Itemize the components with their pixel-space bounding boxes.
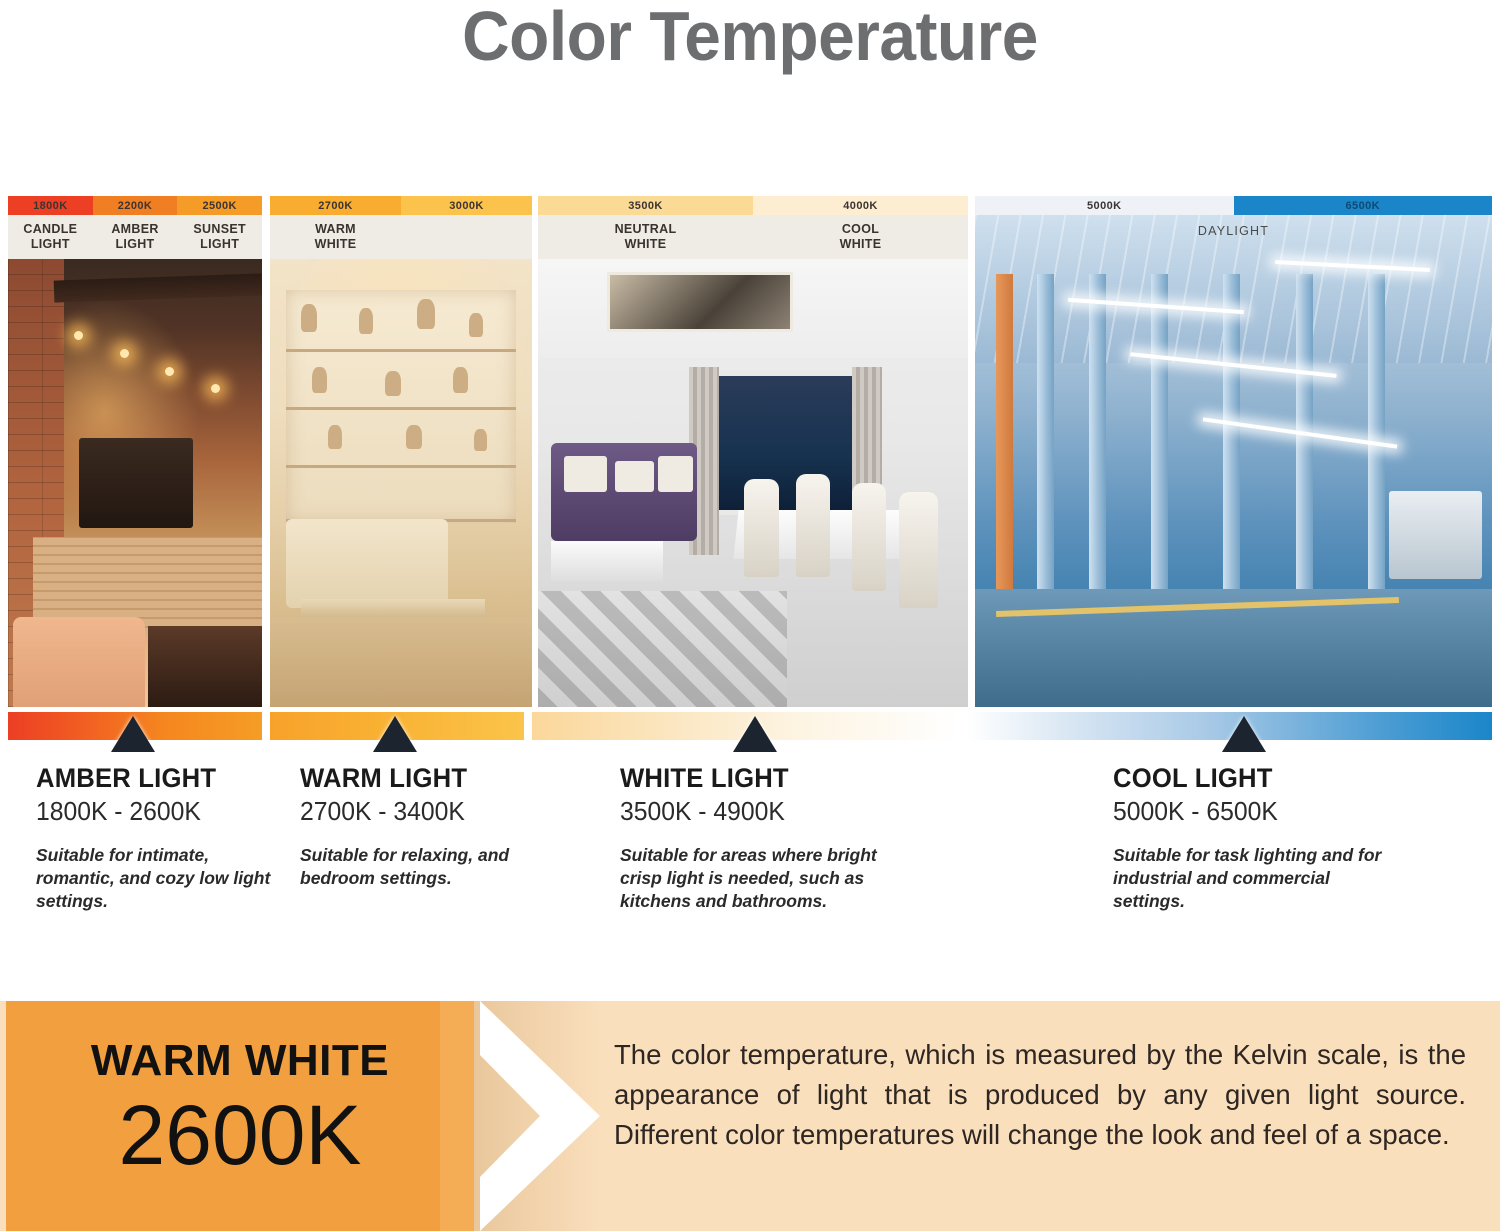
kelvin-band-amber: 1800K 2200K 2500K [8,196,262,215]
panel-warm: 2700K 3000K WARM WHITE [270,196,532,707]
category-description: Suitable for areas where bright crisp li… [620,844,920,913]
category-cool-light: COOL LIGHT 5000K - 6500K Suitable for ta… [1113,762,1403,913]
category-heading: WHITE LIGHT [620,762,905,794]
chevron-right-icon [474,1001,600,1231]
photo-white-dining-room [538,259,968,707]
kelvin-cell-2200k: 2200K [93,196,178,215]
marker-triangle-warm [373,716,417,752]
category-description: Suitable for relaxing, and bedroom setti… [300,844,550,890]
product-banner: WARM WHITE 2600K The color temperature, … [0,1001,1500,1231]
kelvin-name-amber-2: LIGHT [116,237,155,252]
kelvin-cell-2700k: 2700K [270,196,401,215]
kelvin-band-warm: 2700K 3000K [270,196,532,215]
category-warm-light: WARM LIGHT 2700K - 3400K Suitable for re… [300,762,550,890]
kelvin-name-sunset-1: SUNSET [193,222,246,237]
kelvin-cell-3000k: 3000K [401,196,532,215]
photo-amber-loft [8,259,262,707]
kelvin-name-candle-2: LIGHT [31,237,70,252]
kelvin-cell-4000k: 4000K [753,196,968,215]
kelvin-cell-5000k: 5000K [975,196,1234,215]
panel-white: 3500K 4000K NEUTRAL WHITE COOL WHITE [538,196,968,707]
panel-amber: 1800K 2200K 2500K CANDLE LIGHT AMBER LIG… [8,196,262,707]
category-range: 5000K - 6500K [1113,795,1389,827]
kelvin-band-daylight: 5000K 6500K [975,196,1492,215]
marker-triangle-cool [1222,716,1266,752]
marker-triangle-amber [111,716,155,752]
category-heading: COOL LIGHT [1113,762,1389,794]
kelvin-name-daylight: DAYLIGHT [975,218,1492,244]
kelvin-name-coolwhite-2: WHITE [840,237,882,252]
banner-product-label: WARM WHITE [50,1035,430,1087]
kelvin-cell-3500k: 3500K [538,196,753,215]
kelvin-name-warmwhite-1: WARM [315,222,356,237]
panel-daylight: 5000K 6500K [975,196,1492,707]
kelvin-cell-2500k: 2500K [177,196,262,215]
infographic-root: Color Temperature 1800K 2200K 2500K CAND… [0,0,1500,1231]
kelvin-names-white: NEUTRAL WHITE COOL WHITE [538,215,968,259]
page-title: Color Temperature [45,0,1455,74]
category-amber-light: AMBER LIGHT 1800K - 2600K Suitable for i… [36,762,281,913]
category-heading: WARM LIGHT [300,762,538,794]
kelvin-band-white: 3500K 4000K [538,196,968,215]
category-description: Suitable for task lighting and for indus… [1113,844,1403,913]
color-temperature-strip: 1800K 2200K 2500K CANDLE LIGHT AMBER LIG… [8,196,1492,707]
kelvin-name-neutralwhite-1: NEUTRAL [615,222,677,237]
photo-daylight-warehouse [975,215,1492,707]
kelvin-cell-1800k: 1800K [8,196,93,215]
category-heading: AMBER LIGHT [36,762,269,794]
category-range: 1800K - 2600K [36,795,269,827]
photo-warm-living-room [270,259,532,707]
banner-product-kelvin: 2600K [50,1089,430,1181]
banner-product-text: WARM WHITE 2600K [50,1035,430,1181]
category-range: 2700K - 3400K [300,795,538,827]
kelvin-name-warmwhite-2: WHITE [315,237,357,252]
kelvin-names-warm: WARM WHITE [270,215,532,259]
kelvin-name-neutralwhite-2: WHITE [625,237,667,252]
kelvin-names-amber: CANDLE LIGHT AMBER LIGHT SUNSET LIGHT [8,215,262,259]
category-white-light: WHITE LIGHT 3500K - 4900K Suitable for a… [620,762,920,913]
kelvin-cell-6500k: 6500K [1234,196,1493,215]
kelvin-name-coolwhite-1: COOL [842,222,879,237]
marker-triangle-white [733,716,777,752]
kelvin-name-sunset-2: LIGHT [200,237,239,252]
category-description: Suitable for intimate, romantic, and coz… [36,844,281,913]
category-range: 3500K - 4900K [620,795,905,827]
kelvin-name-amber-1: AMBER [111,222,158,237]
banner-paragraph: The color temperature, which is measured… [614,1035,1466,1155]
kelvin-name-candle-1: CANDLE [23,222,77,237]
